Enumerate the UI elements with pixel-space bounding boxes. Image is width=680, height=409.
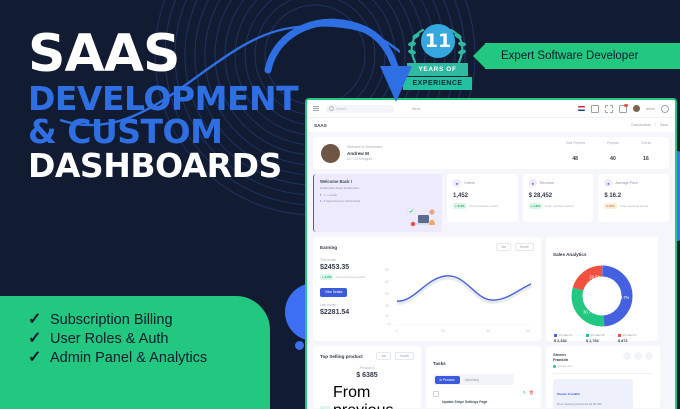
headline-block: SAAS DEVELOPMENT & CUSTOM DASHBOARDS [28, 30, 298, 181]
badge-year-circle: 11 [421, 24, 455, 58]
wallet-icon: ● [529, 179, 537, 187]
topbar-menu-label[interactable]: Menu [412, 107, 420, 111]
more-options-icon[interactable] [645, 352, 653, 360]
badge-ribbon-top: YEARS OF [407, 63, 468, 76]
pencil-icon[interactable]: ✎ [523, 390, 526, 395]
headline-line-4: DASHBOARDS [28, 150, 298, 181]
svg-text:60: 60 [526, 329, 530, 333]
top-selling-note: From previous period [333, 384, 414, 409]
feature-item: ✓ User Roles & Auth [28, 331, 207, 347]
check-icon: ✓ [28, 350, 50, 366]
feature-label: Admin Panel & Analytics [50, 350, 207, 366]
dashboard-mockup: Search... Menu admin SAAS Dashboards / [305, 98, 677, 409]
divider [553, 373, 653, 374]
welcome-bullet-text: 3 Appointments Scheduled [323, 199, 360, 203]
tasks-title: Tasks [433, 361, 446, 366]
earning-delta: + 0.2% [320, 274, 333, 280]
svg-text:0: 0 [396, 329, 398, 333]
topbar-user-label[interactable]: admin [646, 107, 655, 111]
legend-label: Product C [623, 333, 637, 337]
kpi-card: ● Orders 1,452 + 8.3% From previous peri… [447, 174, 518, 222]
chat-card: Steven Franklin Active now [546, 346, 660, 408]
features-panel: ✓ Subscription Billing ✓ User Roles & Au… [0, 296, 270, 409]
svg-text:80: 80 [385, 268, 389, 272]
search-icon[interactable] [623, 352, 631, 360]
profile-avatar [321, 144, 340, 163]
top-selling-range-button[interactable]: Month [395, 352, 414, 360]
gear-icon[interactable] [634, 352, 642, 360]
donut-label-c: 20.5% [589, 275, 601, 280]
svg-text:50: 50 [385, 292, 389, 296]
earning-last-month-label: Last month [320, 303, 380, 307]
chat-status-text: Active now [558, 364, 573, 368]
feature-item: ✓ Admin Panel & Analytics [28, 350, 207, 366]
trash-icon[interactable]: 🗑 [529, 390, 534, 395]
kpi-note: From previous period [469, 204, 497, 208]
profile-stat-label: Clients [641, 141, 651, 145]
illustration-person-at-desk [405, 203, 439, 229]
kpi-card: ● Average Price $ 16.2 0.00% From previo… [598, 174, 669, 222]
profile-stat-value: 16 [643, 156, 649, 162]
earning-card: Earning Jan Month This month $2453.35 + … [313, 237, 541, 341]
profile-greeting: Welcome to Dashboard [347, 145, 382, 149]
legend-label: Product B [591, 333, 605, 337]
avatar[interactable] [633, 105, 640, 112]
profile-role: UI / UX Designer [347, 157, 382, 161]
legend-value: $ 1,763 [586, 339, 618, 343]
chat-contact-last-name: Franklin [553, 357, 573, 362]
sales-legend: Product A $ 2,332 Product B $ 1,763 [553, 333, 651, 343]
svg-text:60: 60 [385, 280, 389, 284]
bullet-icon: • [320, 193, 321, 197]
welcome-card: Welcome Back ! Dashboard Saas Dashboard … [313, 174, 442, 232]
profile-stat-value: 40 [610, 156, 616, 162]
check-icon: ✓ [28, 331, 50, 347]
features-list: ✓ Subscription Billing ✓ User Roles & Au… [28, 312, 207, 369]
kpi-delta: 0.00% [604, 203, 617, 209]
headline-line-1: SAAS [28, 30, 298, 79]
language-flag-icon[interactable] [578, 106, 585, 111]
welcome-title: Welcome Back ! [320, 179, 436, 184]
profile-stat-label: Total Projects [565, 141, 585, 145]
task-item: Update Stripe Settings Page Assigned to … [433, 390, 534, 409]
earning-line-chart: 806050 302010 0204060 [383, 259, 533, 334]
svg-text:10: 10 [387, 322, 391, 326]
donut-label-a: 48.7% [618, 295, 630, 300]
kpi-delta: + 8.3% [453, 203, 466, 209]
badge-years-number: 11 [425, 32, 451, 51]
breadcrumb-parent[interactable]: Dashboards [631, 123, 650, 127]
legend-item: Product A $ 2,332 [554, 333, 586, 343]
feature-label: Subscription Billing [50, 312, 173, 328]
badge-ribbon-top-text: YEARS OF [418, 66, 456, 73]
feature-item: ✓ Subscription Billing [28, 312, 207, 328]
legend-value: $ 2,332 [554, 339, 586, 343]
view-details-button[interactable]: View Details [320, 288, 347, 297]
welcome-bullet: • 7 + Leads [320, 193, 436, 197]
svg-text:20: 20 [441, 329, 445, 333]
online-indicator-icon [553, 365, 556, 368]
sales-donut-chart: 48.7% 30.7% 20.5% [569, 263, 635, 329]
apps-grid-icon[interactable] [591, 105, 599, 113]
legend-item: Product C $ 873 [618, 333, 650, 343]
legend-label: Product A [559, 333, 572, 337]
notification-bell-icon[interactable] [619, 105, 627, 113]
legend-swatch [586, 334, 589, 337]
earning-last-month-value: $2281.54 [320, 309, 380, 316]
tagline-banner: Expert Software Developer [485, 43, 680, 69]
profile-card: Welcome to Dashboard Andrew M UI / UX De… [313, 137, 669, 169]
earning-this-month-value: $2453.35 [320, 264, 380, 271]
blue-pointer-arrow [262, 8, 412, 136]
welcome-subtitle: Dashboard Saas Dashboard [320, 186, 378, 191]
tab-upcoming[interactable]: Upcoming [460, 376, 484, 384]
kpi-label: Revenue [540, 181, 554, 185]
kpi-value: 1,452 [453, 193, 512, 199]
chat-message: Steven Franklin Next meeting tomorrow 10… [553, 379, 633, 409]
welcome-bullet-text: 7 + Leads [323, 193, 337, 197]
sales-title: Sales Analytics [553, 252, 587, 257]
svg-text:40: 40 [486, 329, 490, 333]
tag-icon: ● [604, 179, 612, 187]
promo-banner: SAAS DEVELOPMENT & CUSTOM DASHBOARDS ✓ S… [0, 0, 680, 409]
svg-text:20: 20 [385, 314, 389, 318]
legend-swatch [554, 334, 557, 337]
feature-label: User Roles & Auth [50, 331, 168, 347]
kpi-value: $ 28,452 [529, 193, 588, 199]
legend-value: $ 873 [618, 339, 650, 343]
tasks-tabs: In Process Upcoming [433, 374, 514, 385]
donut-label-b: 30.7% [583, 309, 595, 314]
earning-range-button[interactable]: Month [515, 243, 534, 251]
cart-icon: ● [453, 179, 461, 187]
top-selling-card: Top Selling product Jan Month Product A … [313, 346, 421, 408]
tab-in-process[interactable]: In Process [435, 376, 460, 384]
gear-icon[interactable] [661, 105, 669, 113]
kpi-card: ● Revenue $ 28,452 + 1.2% From previous … [523, 174, 594, 222]
badge-ribbon-bottom: EXPERIENCE [403, 77, 472, 90]
headline-line-3: & CUSTOM [28, 116, 298, 147]
top-selling-product: Product A [320, 366, 414, 370]
profile-stat: Projects 40 [607, 141, 619, 165]
top-selling-value: $ 6385 [320, 372, 414, 379]
legend-item: Product B $ 1,763 [586, 333, 618, 343]
earning-title: Earning [320, 245, 337, 250]
notification-badge [624, 104, 628, 108]
tagline-text: Expert Software Developer [501, 50, 638, 62]
blue-dot-decoration [295, 341, 304, 350]
legend-swatch [618, 334, 621, 337]
profile-name: Andrew M [347, 151, 382, 156]
top-selling-month-select[interactable]: Jan [376, 352, 391, 360]
profile-stat-label: Projects [607, 141, 619, 145]
badge-ribbon-bottom-text: EXPERIENCE [412, 80, 462, 87]
bullet-icon: • [320, 199, 321, 203]
chat-message-text: Next meeting tomorrow 10.00 AM [557, 402, 629, 406]
earning-delta-note: From previous period [336, 275, 364, 279]
kpi-label: Average Price [615, 181, 638, 185]
profile-stat: Clients 16 [641, 141, 651, 165]
earning-this-month-label: This month [320, 258, 380, 262]
sales-analytics-card: Sales Analytics 48.7% 30.7% 20.5% [546, 237, 658, 341]
profile-stat: Total Projects 48 [565, 141, 585, 165]
breadcrumb-separator: / [655, 123, 656, 127]
headline-line-2: DEVELOPMENT [28, 83, 298, 114]
kpi-note: From previous period [620, 204, 648, 208]
chat-status: Active now [553, 364, 573, 368]
kpi-label: Orders [464, 181, 475, 185]
chat-message-author: Steven Franklin [557, 392, 580, 396]
earning-month-select[interactable]: Jan [496, 243, 511, 251]
top-selling-title: Top Selling product [320, 354, 363, 359]
breadcrumb-current: Saas [660, 123, 668, 127]
task-title: Update Stripe Settings Page [442, 400, 487, 404]
kpi-value: $ 16.2 [604, 193, 663, 199]
task-checkbox[interactable] [433, 391, 439, 397]
svg-text:30: 30 [385, 304, 389, 308]
profile-stat-value: 48 [572, 156, 578, 162]
tasks-card: Tasks In Process Upcoming Update Stripe … [426, 346, 541, 408]
check-icon: ✓ [28, 312, 50, 328]
fullscreen-icon[interactable] [605, 105, 613, 113]
kpi-delta: + 1.2% [529, 203, 542, 209]
kpi-note: From previous period [545, 204, 573, 208]
